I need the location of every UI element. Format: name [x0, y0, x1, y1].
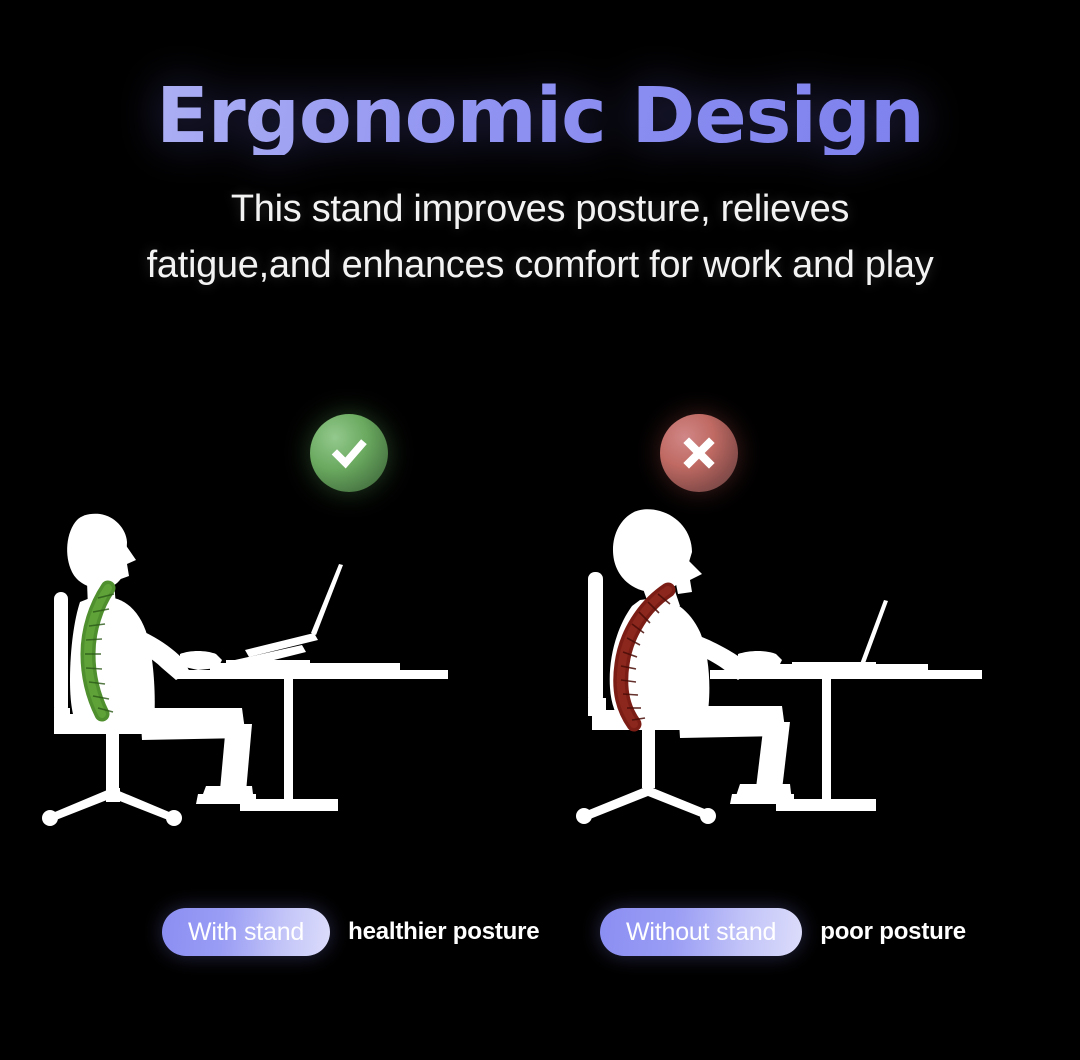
check-mark-icon — [326, 430, 372, 476]
caption-poor-posture: poor posture — [820, 918, 966, 946]
caption-group-with-stand: With stand healthier posture — [162, 908, 539, 956]
panel-without-stand — [560, 406, 1060, 866]
ergonomic-design-page: Ergonomic Design This stand improves pos… — [0, 0, 1080, 1060]
status-badge-good — [310, 414, 388, 492]
cross-mark-icon — [676, 430, 722, 476]
caption-healthier-posture: healthier posture — [348, 918, 539, 946]
subtitle-line-2: fatigue,and enhances comfort for work an… — [0, 237, 1080, 293]
page-subtitle: This stand improves posture, relieves fa… — [0, 155, 1080, 293]
panel-with-stand — [30, 406, 530, 866]
page-title: Ergonomic Design — [0, 0, 1080, 155]
pill-without-stand[interactable]: Without stand — [600, 908, 802, 956]
pill-with-stand-label: With stand — [188, 918, 304, 947]
status-badge-bad — [660, 414, 738, 492]
caption-group-without-stand: Without stand poor posture — [600, 908, 966, 956]
pill-with-stand[interactable]: With stand — [162, 908, 330, 956]
illustration-bad-posture — [560, 502, 1060, 852]
illustration-good-posture — [30, 502, 530, 852]
posture-comparison — [0, 406, 1080, 866]
caption-row: With stand healthier posture Without sta… — [0, 908, 1080, 968]
pill-without-stand-label: Without stand — [626, 918, 776, 947]
header: Ergonomic Design This stand improves pos… — [0, 0, 1080, 293]
subtitle-line-1: This stand improves posture, relieves — [0, 181, 1080, 237]
